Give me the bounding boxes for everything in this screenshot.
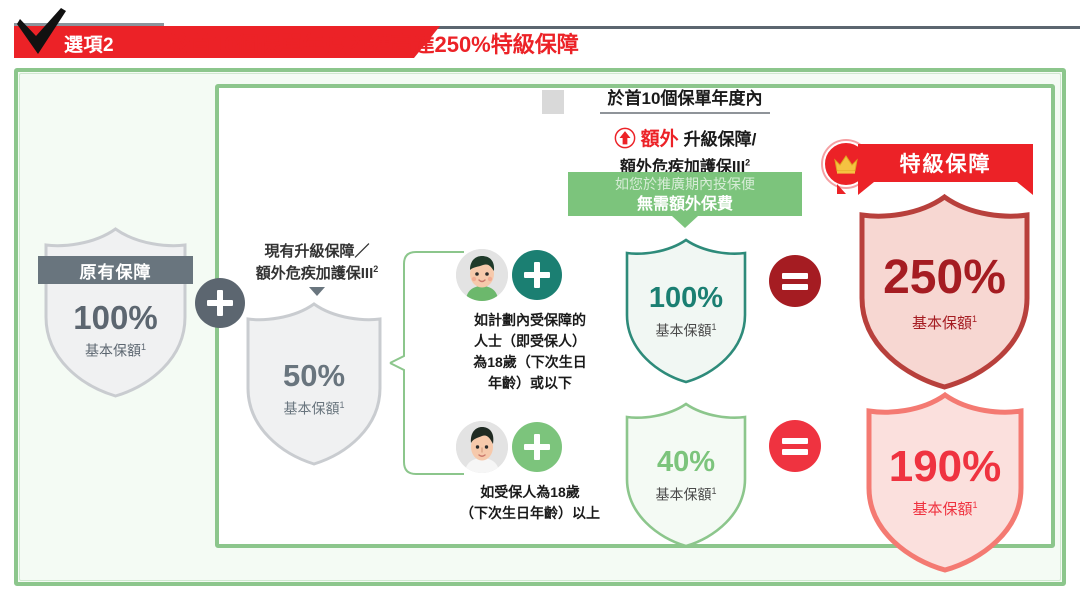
center-top-block: 於首10個保單年度內 額外升級保障/ 額外危疾加護保III2	[540, 84, 830, 177]
caption-line: 如受保人為18歲	[430, 482, 630, 503]
arrow-up-circle-icon	[614, 127, 636, 149]
check-mark-icon	[14, 6, 68, 58]
page-header: 選項2 於首10個保單年度內獲高達250%特級保障	[0, 6, 1080, 54]
existing-upgrade-label: 現有升級保障／ 額外危疾加護保III2	[222, 241, 412, 296]
caption-line: 為18歲（下次生日	[430, 352, 630, 373]
premium-ribbon-label: 特級保障	[858, 144, 1033, 182]
shield-original-coverage: 100% 基本保額1	[38, 225, 193, 400]
caption-line: 如計劃內受保障的	[430, 310, 630, 331]
shield-total-190: 190% 基本保額1	[860, 390, 1030, 575]
plus-operator-adult	[512, 422, 562, 472]
child-eligibility-caption: 如計劃內受保障的 人士（即受保人） 為18歲（下次生日 年齡）或以下	[430, 310, 630, 394]
page-title: 於首10個保單年度內獲高達250%特級保障	[168, 27, 579, 59]
existing-upgrade-line1: 現有升級保障／	[222, 241, 412, 263]
promo-callout: 如您於推廣期內投保便 無需額外保費	[568, 172, 802, 216]
extra-upgrade-line1: 額外升級保障/	[540, 124, 830, 151]
premium-ribbon: 特級保障	[858, 144, 1033, 182]
plus-operator-child	[512, 250, 562, 300]
shield-bonus-40: 40% 基本保額1	[620, 400, 752, 550]
plus-icon	[524, 262, 550, 288]
equals-icon	[782, 433, 808, 459]
equals-operator-top	[769, 255, 821, 307]
shield-bonus-100: 100% 基本保額1	[620, 236, 752, 386]
adult-avatar-icon	[456, 421, 508, 473]
equals-icon	[782, 268, 808, 294]
crown-icon	[833, 153, 859, 175]
equals-operator-bottom	[769, 420, 821, 472]
policy-period-title: 於首10個保單年度內	[600, 84, 771, 114]
shield-upgrade-50: 50% 基本保額1	[240, 300, 388, 468]
existing-upgrade-line2: 額外危疾加護保III2	[222, 263, 412, 285]
caption-line: （下次生日年齡）以上	[430, 503, 630, 524]
center-shadow-block	[542, 90, 564, 114]
promo-line-2: 無需額外保費	[568, 194, 802, 216]
arrow-down-icon	[309, 287, 325, 296]
option-label: 選項2	[64, 30, 114, 57]
promo-line-1: 如您於推廣期內投保便	[568, 175, 802, 194]
child-avatar-icon	[456, 249, 508, 301]
extra-red-text: 額外	[641, 124, 679, 151]
original-coverage-banner: 原有保障	[38, 256, 193, 284]
caption-line: 年齡）或以下	[430, 373, 630, 394]
plus-icon	[524, 434, 550, 460]
extra-rest-text: 升級保障/	[684, 125, 757, 150]
shield-total-250: 250% 基本保額1	[852, 192, 1037, 392]
adult-eligibility-caption: 如受保人為18歲 （下次生日年齡）以上	[430, 482, 630, 524]
caption-line: 人士（即受保人）	[430, 331, 630, 352]
promo-notch	[672, 216, 698, 228]
